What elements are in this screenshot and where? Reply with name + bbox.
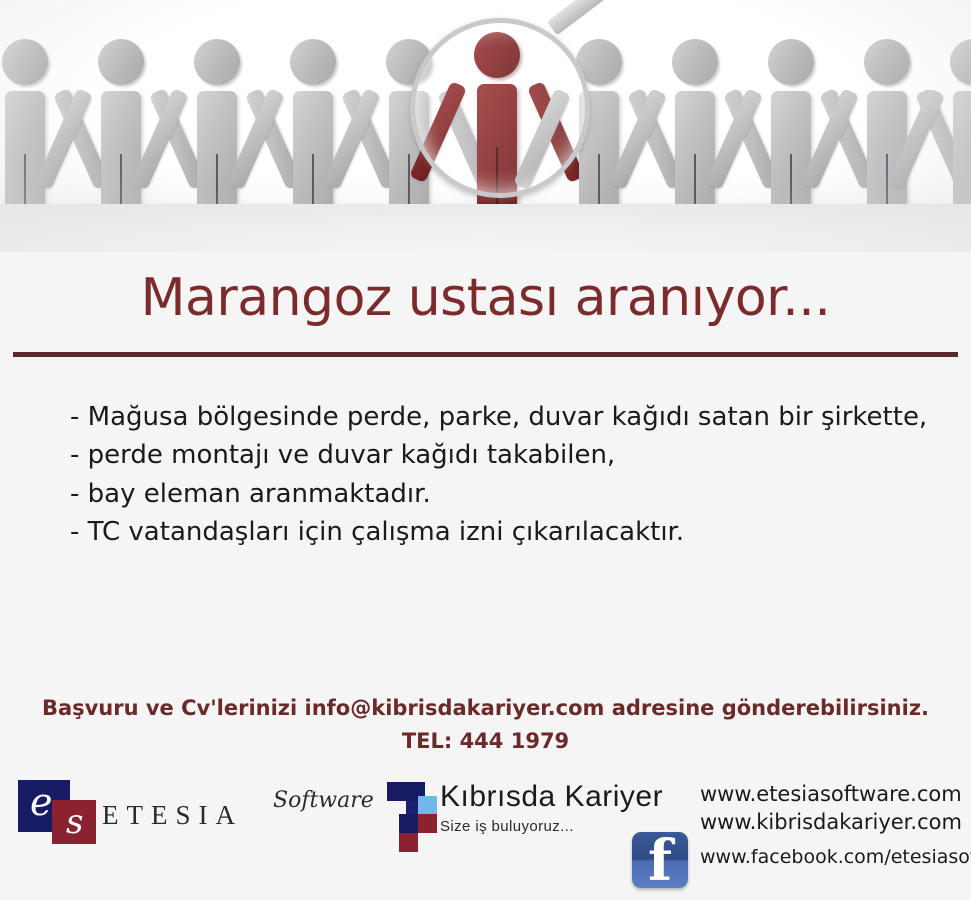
facebook-icon[interactable]: f (632, 832, 688, 888)
crowd-figure (652, 39, 738, 224)
figure-head-icon (194, 39, 240, 85)
phone-line: TEL: 444 1979 (0, 725, 971, 758)
kk-tile-lightblue (418, 796, 437, 815)
figure-head-icon (672, 39, 718, 85)
kk-tile-navy (399, 814, 418, 833)
etesia-badge-letter-s: s (66, 802, 83, 842)
list-item: - perde montajı ve duvar kağıdı takabile… (70, 436, 950, 474)
list-item: - Mağusa bölgesinde perde, parke, duvar … (70, 398, 950, 436)
list-item: - TC vatandaşları için çalışma izni çıka… (70, 513, 950, 551)
crowd-figure (930, 39, 971, 224)
crowd-figure (174, 39, 260, 224)
etesia-logo: e s ETESIA Software (18, 778, 368, 844)
magnifier-handle-shaft (547, 0, 620, 35)
job-posting-poster: Marangoz ustası aranıyor... - Mağusa böl… (0, 0, 971, 900)
kk-tile-navy (387, 782, 406, 801)
footer: e s ETESIA Software Kıbrısda Kariyer Siz… (0, 770, 971, 900)
figure-head-icon (98, 39, 144, 85)
crowd-figure (270, 39, 356, 224)
kk-tile-red (399, 833, 418, 852)
list-item: - bay eleman aranmaktadır. (70, 475, 950, 513)
kk-tile-red (418, 814, 437, 833)
website-etesia[interactable]: www.etesiasoftware.com (700, 780, 962, 808)
crowd-figure (748, 39, 834, 224)
crowd-figure (78, 39, 164, 224)
magnifying-glass-icon (410, 18, 590, 198)
figure-head-icon (864, 39, 910, 85)
website-list: www.etesiasoftware.com www.kibrisdakariy… (700, 780, 962, 837)
figure-head-icon (768, 39, 814, 85)
hero-floor-shadow (0, 204, 971, 252)
contact-block: Başvuru ve Cv'lerinizi info@kibrisdakari… (0, 692, 971, 757)
title-divider (13, 352, 958, 357)
requirements-list: - Mağusa bölgesinde perde, parke, duvar … (70, 398, 950, 552)
page-title: Marangoz ustası aranıyor... (0, 268, 971, 328)
figure-head-icon (2, 39, 48, 85)
etesia-badge-letter-e: e (30, 780, 53, 824)
etesia-software-suffix: Software (273, 788, 374, 813)
kibrisdakariyer-tagline: Size iş buluyoruz... (440, 818, 574, 835)
figure-head-icon (290, 39, 336, 85)
website-kibrisdakariyer[interactable]: www.kibrisdakariyer.com (700, 808, 962, 836)
figure-head-icon (950, 39, 971, 85)
etesia-wordmark: ETESIA (102, 800, 243, 831)
kibrisdakariyer-wordmark: Kıbrısda Kariyer (440, 780, 663, 814)
facebook-f-glyph: f (648, 832, 672, 888)
facebook-url[interactable]: www.facebook.com/etesiasoftware (700, 846, 971, 868)
hero-image (0, 0, 971, 252)
application-email-line: Başvuru ve Cv'lerinizi info@kibrisdakari… (0, 692, 971, 725)
